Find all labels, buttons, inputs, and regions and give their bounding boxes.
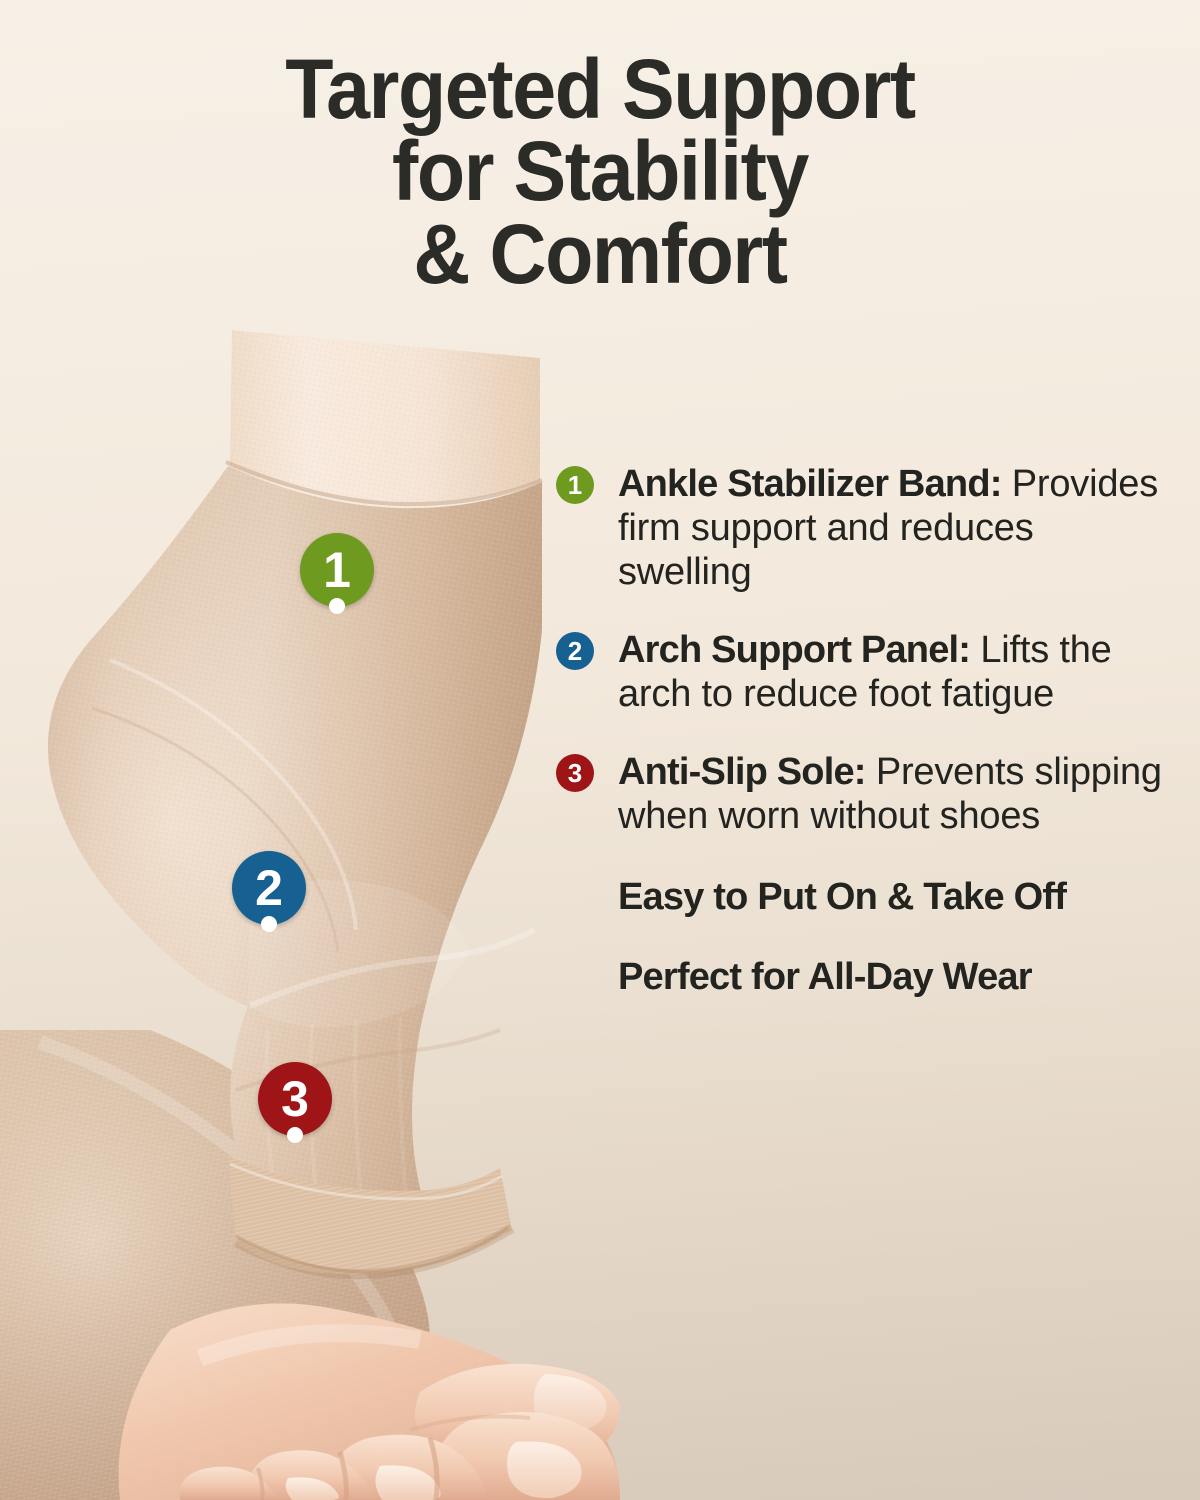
callout-pin-1-number: 1 [323, 545, 351, 595]
page-title: Targeted Support for Stability & Comfort [0, 48, 1200, 295]
callout-pin-2-number: 2 [255, 863, 283, 913]
feature-badge-3-number: 3 [568, 760, 582, 786]
feature-item-1: 1 Ankle Stabilizer Band: Provides firm s… [556, 462, 1170, 594]
feature-list: 1 Ankle Stabilizer Band: Provides firm s… [556, 462, 1170, 999]
callout-pin-1-dot [329, 598, 345, 614]
feature-title-1: Ankle Stabilizer Band: [618, 463, 1002, 505]
callout-pin-3-number: 3 [281, 1074, 309, 1124]
callout-pin-2-arch-support-panel[interactable]: 2 [232, 851, 306, 925]
feature-badge-1-number: 1 [568, 472, 582, 498]
title-line-1: Targeted Support [36, 48, 1164, 130]
feature-badge-1: 1 [556, 466, 594, 504]
bare-foot-toes [119, 1303, 620, 1500]
feature-text-3: Anti-Slip Sole: Prevents slipping when w… [556, 750, 1170, 838]
feature-text-1: Ankle Stabilizer Band: Provides firm sup… [556, 462, 1170, 594]
feature-badge-2: 2 [556, 632, 594, 670]
feature-badge-2-number: 2 [568, 638, 582, 664]
tagline-easy-to-put-on: Easy to Put On & Take Off [556, 875, 1170, 919]
feature-title-3: Anti-Slip Sole: [618, 751, 866, 793]
feature-item-3: 3 Anti-Slip Sole: Prevents slipping when… [556, 750, 1170, 838]
tagline-all-day-wear: Perfect for All-Day Wear [556, 955, 1170, 999]
product-infographic-poster: Targeted Support for Stability & Comfort… [0, 0, 1200, 1500]
callout-pin-1-ankle-stabilizer-band[interactable]: 1 [300, 533, 374, 607]
title-line-3: & Comfort [36, 213, 1164, 295]
product-photo [0, 330, 620, 1500]
callout-pin-2-dot [261, 916, 277, 932]
feature-text-2: Arch Support Panel: Lifts the arch to re… [556, 628, 1170, 716]
feature-item-2: 2 Arch Support Panel: Lifts the arch to … [556, 628, 1170, 716]
callout-pin-3-anti-slip-sole[interactable]: 3 [258, 1062, 332, 1136]
title-line-2: for Stability [36, 130, 1164, 212]
callout-pin-3-dot [287, 1127, 303, 1143]
feature-title-2: Arch Support Panel: [618, 629, 970, 671]
